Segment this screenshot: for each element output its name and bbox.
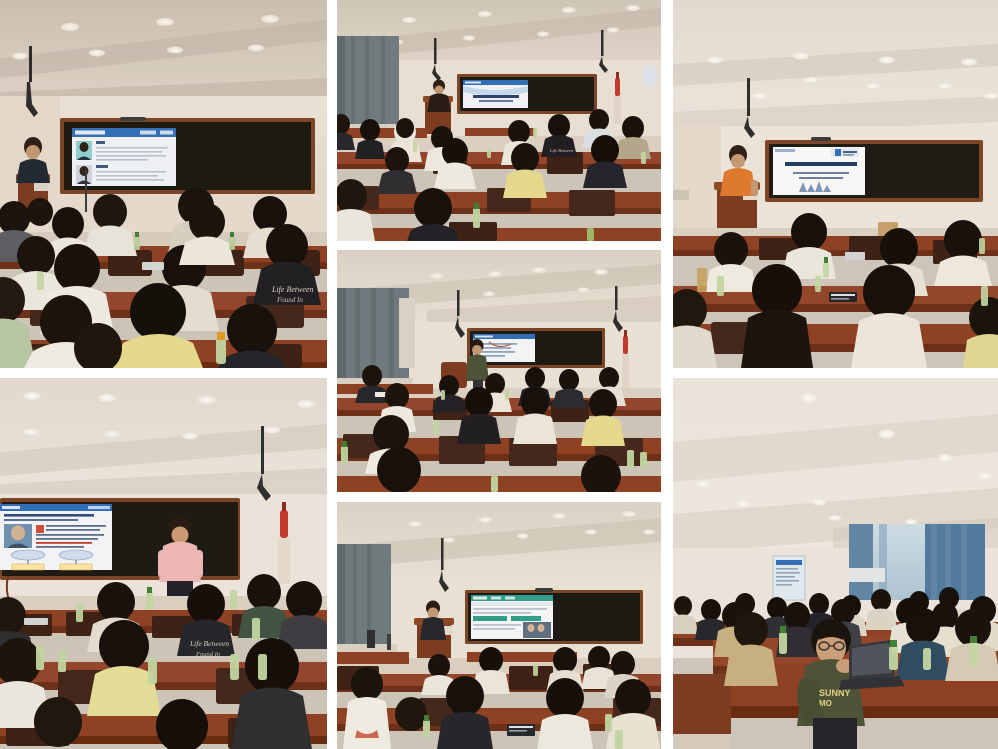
photo-4-image: [337, 250, 661, 492]
photo-5-image: Life Between Found In: [0, 378, 327, 749]
photo-3[interactable]: [673, 0, 998, 368]
photo-2[interactable]: Life Between: [337, 0, 661, 241]
photo-1-image: Life Between Found In: [0, 0, 327, 368]
photo-5[interactable]: Life Between Found In: [0, 378, 327, 749]
gutter-horizontal-col2-b: [337, 492, 661, 502]
gutter-vertical-1: [327, 0, 337, 749]
photo-collage: Life Between Found In: [0, 0, 998, 749]
gutter-horizontal-col3: [673, 368, 998, 378]
photo-1[interactable]: Life Between Found In: [0, 0, 327, 368]
photo-6[interactable]: [337, 502, 661, 749]
photo-6-image: [337, 502, 661, 749]
photo-7-image: SUNNY MO: [673, 378, 998, 749]
gutter-horizontal-col1: [0, 368, 327, 378]
gutter-vertical-2: [661, 0, 673, 749]
photo-3-image: [673, 0, 998, 368]
photo-4[interactable]: [337, 250, 661, 492]
photo-7[interactable]: SUNNY MO: [673, 378, 998, 749]
photo-2-image: Life Between: [337, 0, 661, 241]
gutter-horizontal-col2-a: [337, 241, 661, 250]
